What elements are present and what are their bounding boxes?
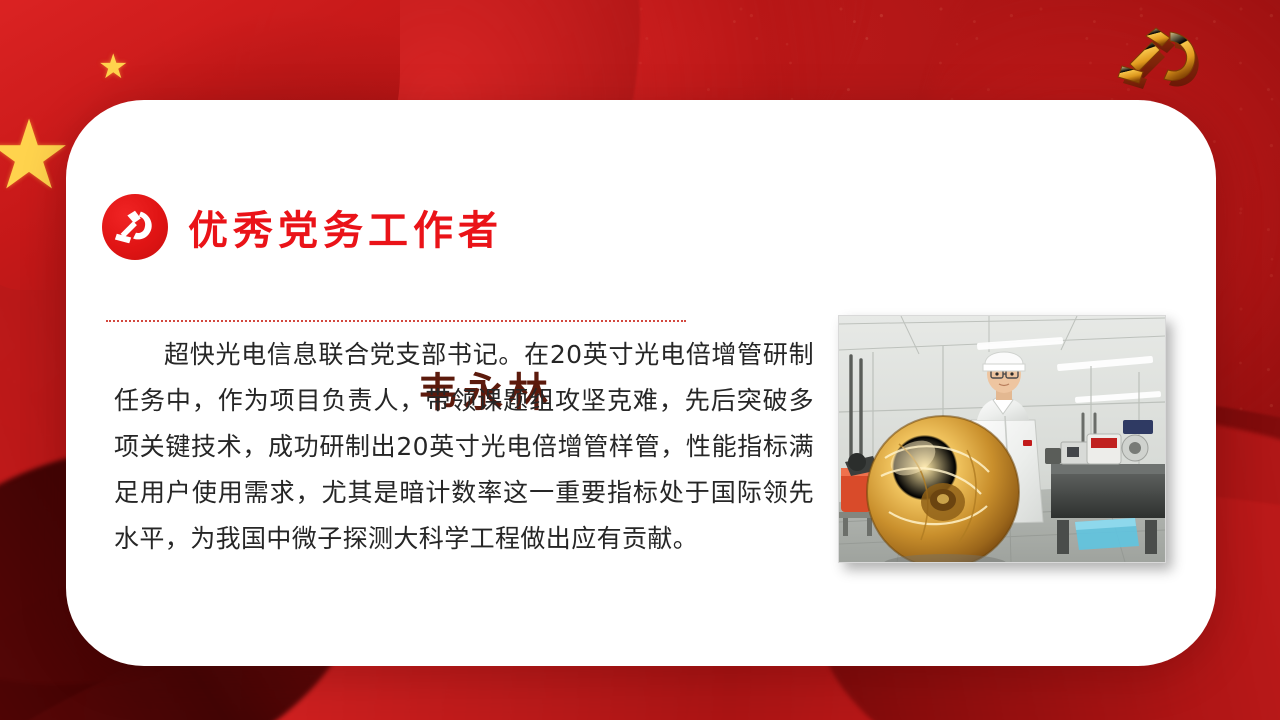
dotted-divider [106, 320, 686, 322]
portrait-photo [838, 315, 1166, 563]
flag-star-small-1: ★ [98, 50, 128, 84]
heading-row: 优秀党务工作者 [102, 194, 503, 260]
content-card: 优秀党务工作者 韦永林 超快光电信息联合党支部书记。在20英寸光电倍增管研制任务… [66, 100, 1216, 666]
page-title: 优秀党务工作者 [188, 198, 503, 256]
flag-star-large: ★ [0, 108, 72, 204]
party-emblem-circle-icon [102, 194, 168, 260]
biography-paragraph: 超快光电信息联合党支部书记。在20英寸光电倍增管研制任务中，作为项目负责人，带领… [114, 332, 814, 562]
slide-root: ★ ★ ★ ★ ★ [0, 0, 1280, 720]
party-emblem-gold-icon [1110, 22, 1218, 100]
